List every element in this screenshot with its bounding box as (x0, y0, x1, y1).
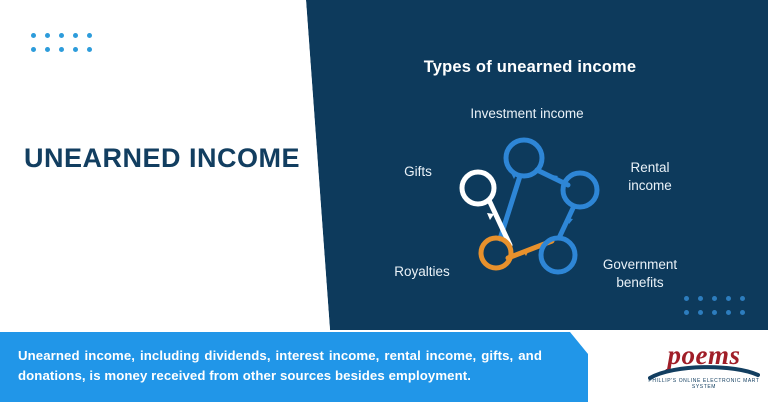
link-rental-government (559, 206, 574, 238)
node-rental-income (563, 173, 597, 207)
footer-caption-bar: Unearned income, including dividends, in… (0, 332, 588, 402)
node-government-benefits (541, 238, 575, 272)
footer-caption-text: Unearned income, including dividends, in… (18, 346, 542, 387)
node-investment-income (506, 140, 542, 176)
decorative-dots-top-left (31, 33, 101, 61)
logo-tagline: PHILLIP'S ONLINE ELECTRONIC MART SYSTEM (648, 378, 760, 390)
link-arrow-marker (487, 213, 494, 220)
node-royalties (481, 238, 511, 268)
infographic-canvas: UNEARNED INCOME Types of unearned income… (0, 0, 768, 402)
node-label-investment-income: Investment income (407, 105, 647, 123)
node-gifts (462, 172, 494, 204)
page-title: UNEARNED INCOME (18, 140, 306, 177)
panel-heading: Types of unearned income (380, 58, 680, 77)
brand-logo: poems PHILLIP'S ONLINE ELECTRONIC MART S… (648, 338, 760, 394)
decorative-dots-bottom-right (684, 296, 754, 324)
node-link-diagram (440, 125, 640, 290)
